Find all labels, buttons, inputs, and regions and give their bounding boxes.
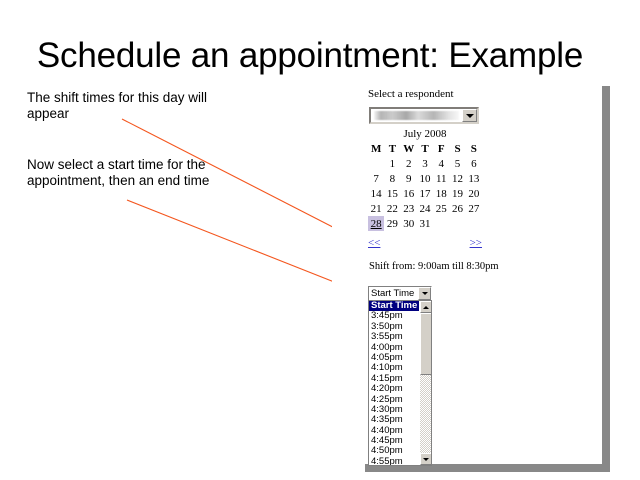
calendar-day[interactable]: 22: [384, 201, 400, 216]
calendar-day[interactable]: 26: [449, 201, 465, 216]
calendar-navigation: << >>: [368, 237, 482, 249]
calendar-prev-month-link[interactable]: <<: [368, 237, 380, 249]
calendar-weekday-row: M T W T F S S: [368, 142, 482, 156]
calendar-day[interactable]: 6: [466, 156, 482, 171]
list-item[interactable]: 4:55pm: [369, 457, 419, 465]
calendar-month-label: July 2008: [368, 128, 482, 142]
weekday-header: S: [449, 142, 465, 156]
shift-hours-text: Shift from: 9:00am till 8:30pm: [369, 261, 499, 272]
calendar-day[interactable]: 13: [466, 171, 482, 186]
calendar-day[interactable]: 9: [401, 171, 417, 186]
calendar-day[interactable]: 1: [384, 156, 400, 171]
calendar-day[interactable]: 7: [368, 171, 384, 186]
calendar-week-row: 14 15 16 17 18 19 20: [368, 186, 482, 201]
calendar-day[interactable]: 15: [384, 186, 400, 201]
calendar-day[interactable]: 16: [401, 186, 417, 201]
weekday-header: T: [417, 142, 433, 156]
caret-down-icon: [423, 458, 429, 461]
weekday-header: T: [384, 142, 400, 156]
calendar-day: [466, 216, 482, 231]
weekday-header: S: [466, 142, 482, 156]
scroll-down-button[interactable]: [420, 453, 432, 465]
chevron-down-icon[interactable]: [418, 287, 431, 300]
calendar-day[interactable]: 19: [449, 186, 465, 201]
start-time-dropdown-list[interactable]: Start Time 3:45pm 3:50pm 3:55pm 4:00pm 4…: [368, 300, 432, 466]
scrollbar-track[interactable]: [420, 313, 431, 453]
respondent-select[interactable]: [369, 107, 479, 124]
respondent-label: Select a respondent: [368, 88, 454, 100]
calendar-day[interactable]: 5: [449, 156, 465, 171]
calendar-week-row: 28 29 30 31: [368, 216, 482, 231]
calendar-day[interactable]: 31: [417, 216, 433, 231]
calendar-widget: July 2008 M T W T F S S 1 2 3 4 5 6: [368, 128, 482, 231]
calendar-week-row: 1 2 3 4 5 6: [368, 156, 482, 171]
scrollbar-thumb[interactable]: [420, 313, 432, 375]
calendar-day[interactable]: 30: [401, 216, 417, 231]
calendar-day-selected[interactable]: 28: [368, 216, 384, 231]
scroll-up-button[interactable]: [420, 301, 432, 313]
annotation-shift-times: The shift times for this day will appear: [27, 90, 242, 122]
calendar-day[interactable]: 23: [401, 201, 417, 216]
caret-up-icon: [423, 306, 429, 309]
panel-shadow-right: [602, 86, 610, 467]
list-item[interactable]: 4:20pm: [369, 384, 419, 394]
calendar-day[interactable]: 21: [368, 201, 384, 216]
calendar-day: [449, 216, 465, 231]
calendar-day[interactable]: 24: [417, 201, 433, 216]
annotation-select-start-time: Now select a start time for the appointm…: [27, 157, 247, 189]
caret-glyph: [422, 292, 428, 295]
start-time-selected-value: Start Time: [369, 288, 418, 299]
calendar-day: [433, 216, 449, 231]
weekday-header: M: [368, 142, 384, 156]
start-time-option-list[interactable]: Start Time 3:45pm 3:50pm 3:55pm 4:00pm 4…: [369, 301, 419, 465]
calendar-day[interactable]: 11: [433, 171, 449, 186]
calendar-table: M T W T F S S 1 2 3 4 5 6 7 8 9: [368, 142, 482, 231]
calendar-day[interactable]: 29: [384, 216, 400, 231]
weekday-header: F: [433, 142, 449, 156]
calendar-day[interactable]: 8: [384, 171, 400, 186]
chevron-down-icon[interactable]: [462, 109, 477, 122]
calendar-day: [368, 156, 384, 171]
calendar-day[interactable]: 14: [368, 186, 384, 201]
calendar-day[interactable]: 17: [417, 186, 433, 201]
calendar-day[interactable]: 18: [433, 186, 449, 201]
listbox-scrollbar[interactable]: [419, 301, 431, 465]
calendar-day[interactable]: 27: [466, 201, 482, 216]
list-item[interactable]: 3:55pm: [369, 332, 419, 342]
calendar-next-month-link[interactable]: >>: [470, 237, 482, 249]
calendar-day[interactable]: 20: [466, 186, 482, 201]
calendar-day[interactable]: 3: [417, 156, 433, 171]
caret-glyph: [466, 114, 474, 118]
calendar-day[interactable]: 25: [433, 201, 449, 216]
calendar-day[interactable]: 2: [401, 156, 417, 171]
weekday-header: W: [401, 142, 417, 156]
calendar-week-row: 7 8 9 10 11 12 13: [368, 171, 482, 186]
start-time-select[interactable]: Start Time: [368, 286, 432, 301]
respondent-selected-value: [374, 111, 459, 120]
calendar-day[interactable]: 10: [417, 171, 433, 186]
arrow-to-start-time: [127, 200, 362, 293]
calendar-week-row: 21 22 23 24 25 26 27: [368, 201, 482, 216]
page-title: Schedule an appointment: Example: [0, 36, 620, 76]
calendar-day[interactable]: 4: [433, 156, 449, 171]
calendar-day[interactable]: 12: [449, 171, 465, 186]
